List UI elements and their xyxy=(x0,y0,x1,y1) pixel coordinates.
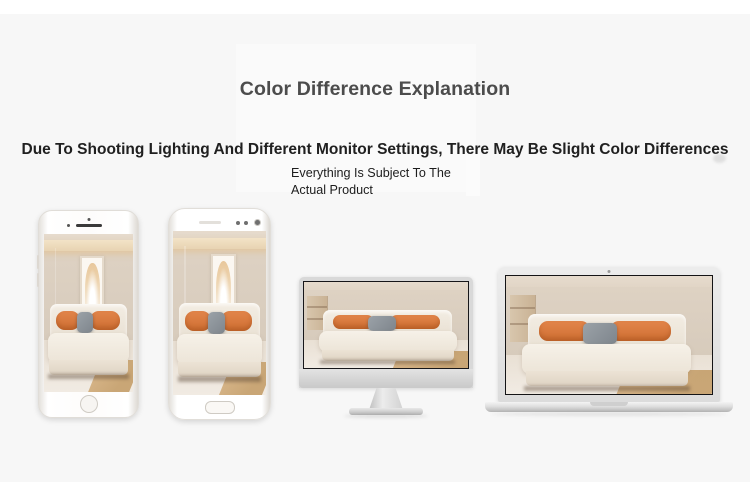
front-camera-icon xyxy=(254,219,261,226)
sofa-seat-cushion xyxy=(522,344,691,374)
sofa-ground-shadow xyxy=(524,386,690,391)
scene-sofa xyxy=(48,304,130,378)
proximity-sensor-icon xyxy=(67,224,70,227)
page-title: Color Difference Explanation xyxy=(0,76,750,102)
webcam-icon xyxy=(608,270,611,273)
disclaimer-subtitle: Due To Shooting Lighting And Different M… xyxy=(0,139,750,161)
iphone-screen-product-image xyxy=(44,234,133,392)
sofa-seat-cushion xyxy=(177,334,263,365)
sofa-accent-pillow xyxy=(208,312,225,334)
scene-sofa xyxy=(522,314,691,390)
device-smartphone-android xyxy=(168,208,271,420)
sofa-base xyxy=(526,371,688,386)
volume-up-button[interactable] xyxy=(37,255,39,269)
earpiece-speaker-icon xyxy=(76,224,102,227)
scene-wall-art xyxy=(211,254,235,309)
scene-bookshelf-shelf xyxy=(510,307,535,309)
scene-wall-art xyxy=(80,256,104,309)
sofa-seat-cushion xyxy=(319,331,457,352)
sofa-bolster-pillow-right xyxy=(390,315,440,329)
home-button[interactable] xyxy=(205,401,235,414)
front-camera-icon xyxy=(87,218,90,221)
sofa-ground-shadow xyxy=(320,360,455,364)
sofa-base xyxy=(49,360,128,375)
light-sensor-icon xyxy=(236,221,240,225)
sofa-base xyxy=(322,350,454,361)
device-desktop-monitor xyxy=(299,277,473,420)
sofa-bolster-pillow-right xyxy=(90,311,119,330)
scene-sofa xyxy=(177,303,263,380)
color-difference-explanation-page: Color Difference Explanation Due To Shoo… xyxy=(0,0,750,502)
laptop-base-shadow xyxy=(491,412,727,416)
sofa-ground-shadow xyxy=(178,376,262,381)
sofa-accent-pillow xyxy=(77,312,93,333)
scene-bookshelf-shelf xyxy=(307,306,327,308)
sofa-base xyxy=(178,362,260,377)
disclaimer-note-line-1: Everything Is Subject To The xyxy=(291,165,521,182)
monitor-bezel xyxy=(299,277,473,388)
volume-down-button[interactable] xyxy=(37,273,39,287)
monitor-stand-neck xyxy=(369,388,403,410)
laptop-lid xyxy=(498,267,720,402)
device-smartphone-iphone xyxy=(38,210,139,418)
scene-ceiling-light xyxy=(173,238,266,249)
sofa-scene xyxy=(506,276,712,394)
monitor-chin xyxy=(299,369,473,388)
image-artifact-smudge xyxy=(713,154,726,163)
sofa-seat-cushion xyxy=(48,333,130,363)
sofa-accent-pillow xyxy=(583,323,617,344)
sofa-ground-shadow xyxy=(48,374,128,379)
disclaimer-note-line-2: Actual Product xyxy=(291,182,521,199)
scene-sofa xyxy=(319,310,457,363)
sofa-scene xyxy=(304,282,468,368)
laptop-screen-product-image xyxy=(505,275,713,395)
disclaimer-note: Everything Is Subject To The Actual Prod… xyxy=(291,165,521,198)
android-screen-product-image xyxy=(173,231,266,395)
sofa-scene xyxy=(44,234,133,392)
device-laptop xyxy=(485,267,733,422)
sofa-bolster-pillow-right xyxy=(221,311,252,331)
proximity-sensor-icon xyxy=(244,221,248,225)
sofa-scene xyxy=(173,231,266,395)
sofa-bolster-pillow-right xyxy=(610,321,671,341)
sofa-accent-pillow xyxy=(368,316,396,331)
laptop-base-notch xyxy=(590,402,628,406)
scene-ceiling-light xyxy=(44,240,133,251)
earpiece-speaker-icon xyxy=(199,221,221,224)
monitor-screen-product-image xyxy=(303,281,469,369)
monitor-stand-shadow xyxy=(344,414,428,418)
home-button[interactable] xyxy=(80,395,98,413)
